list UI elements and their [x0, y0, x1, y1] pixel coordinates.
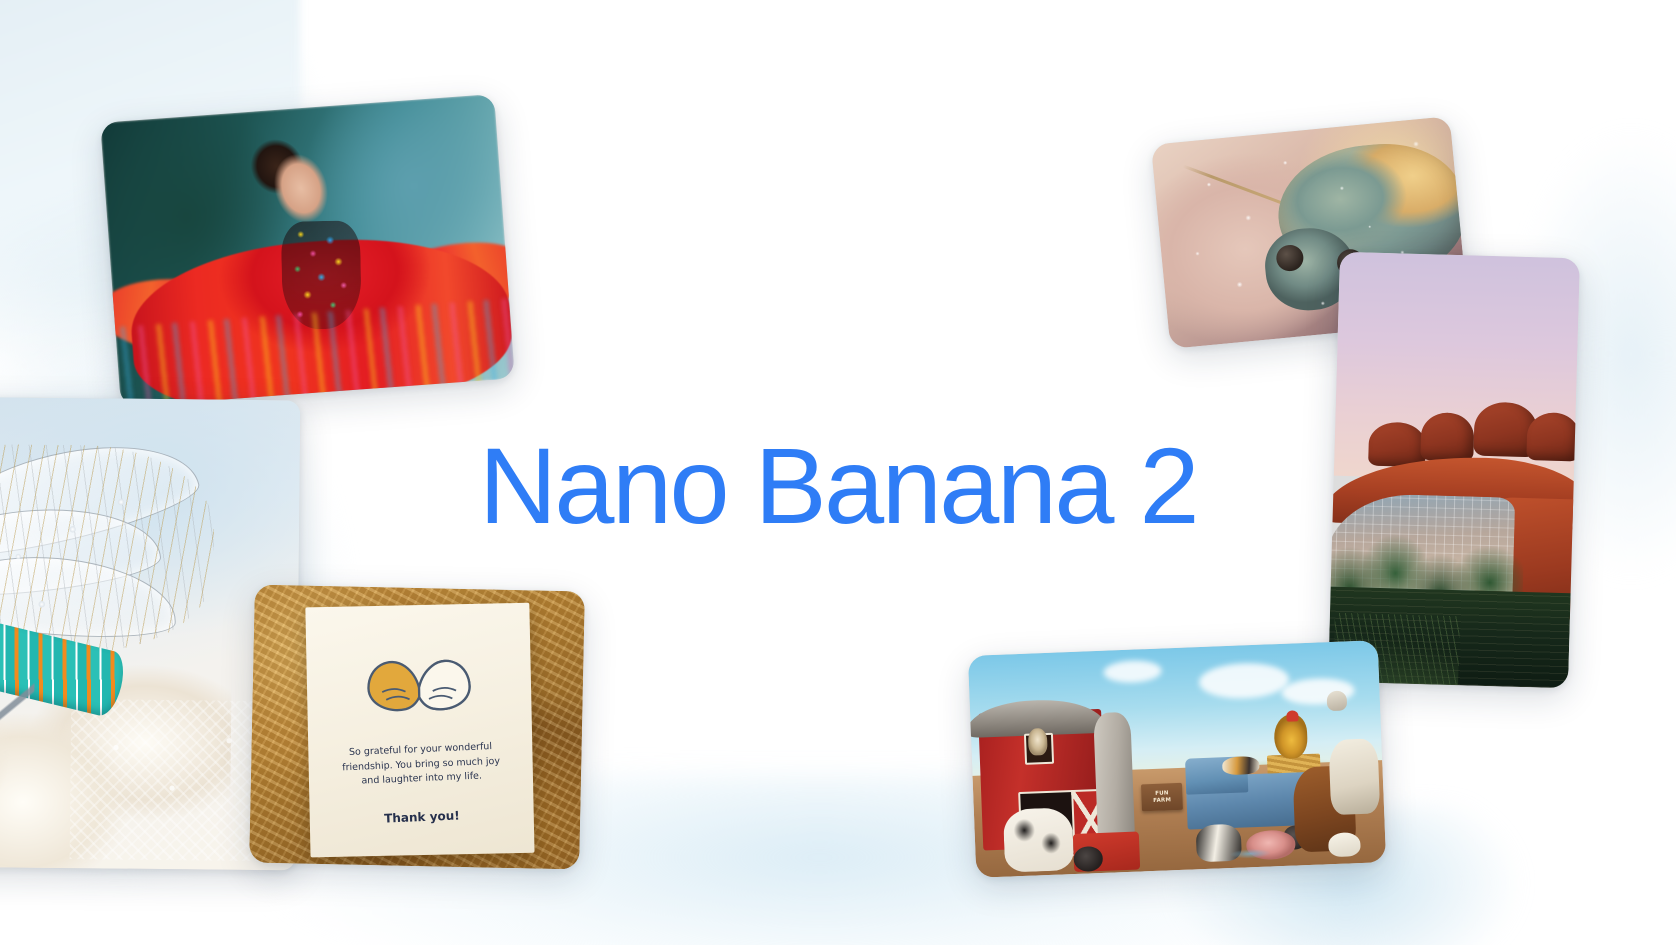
white-goat [1328, 738, 1380, 815]
thank-you-signoff: Thank you! [310, 805, 535, 828]
page-title: Nano Banana 2 [0, 432, 1676, 540]
dairy-cow [1003, 807, 1075, 872]
claymation-farm-image: FUN FARM [968, 640, 1386, 878]
silver-legs [0, 678, 34, 802]
hands-heart-icon [360, 644, 478, 721]
thank-you-card-image: So grateful for your wonderful friendshi… [249, 585, 585, 870]
fun-farm-sign-line-2: FARM [1153, 797, 1171, 804]
folk-dancer-image [100, 94, 515, 407]
gallery-card-claymation-farm[interactable]: FUN FARM [968, 640, 1386, 878]
llama [1028, 728, 1047, 755]
gallery-card-thank-you[interactable]: So grateful for your wonderful friendshi… [249, 585, 585, 870]
chicken-comb [1286, 710, 1299, 722]
calico-cat [1222, 756, 1260, 775]
small-bird [1326, 690, 1347, 711]
gallery-card-folk-dancer[interactable] [100, 94, 515, 407]
greeting-card-paper: So grateful for your wonderful friendshi… [305, 602, 535, 857]
hero-stage: So grateful for your wonderful friendshi… [0, 0, 1676, 945]
fun-farm-sign: FUN FARM [1141, 783, 1183, 811]
thank-you-message: So grateful for your wonderful friendshi… [324, 738, 519, 790]
duck [1328, 832, 1362, 858]
grain-silo [1093, 712, 1135, 842]
